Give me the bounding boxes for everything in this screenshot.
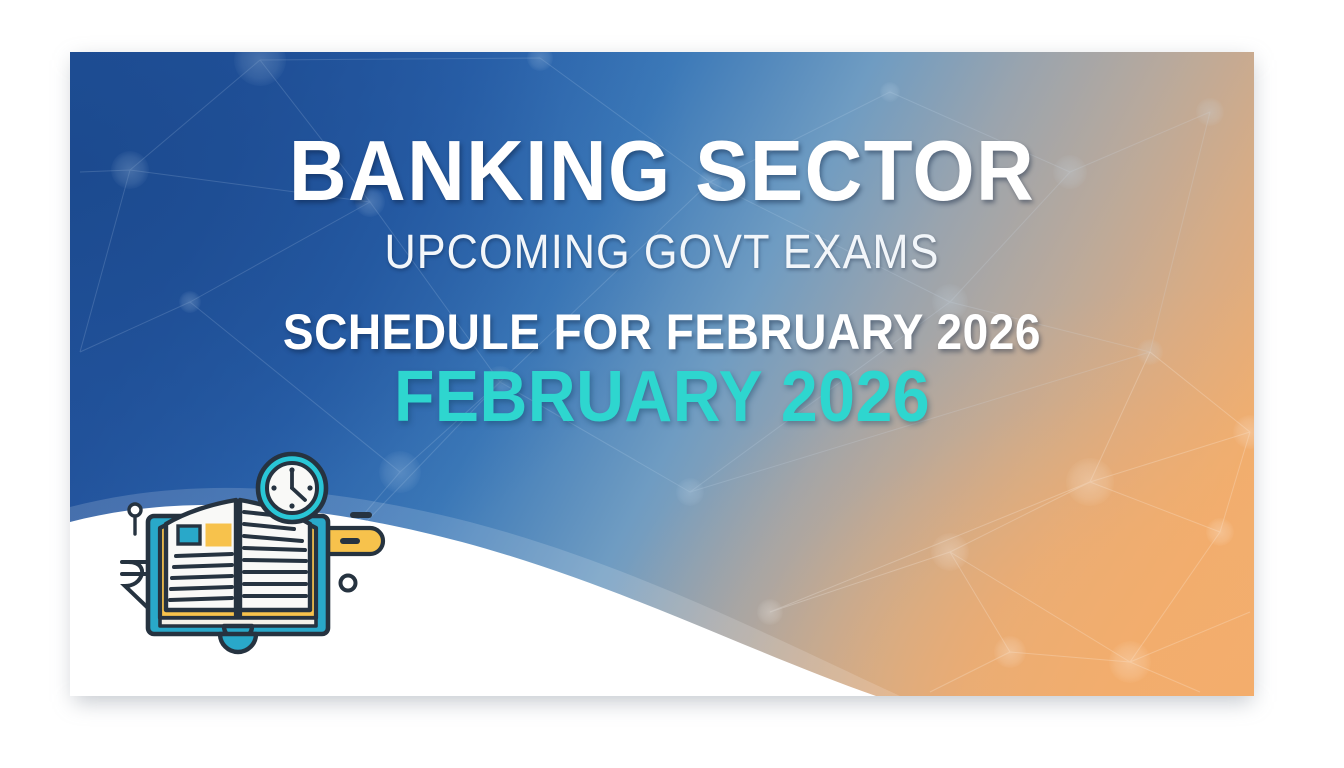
- pin-icon: [129, 504, 141, 534]
- clock-icon: [258, 454, 326, 522]
- screenshot-root: BANKING SECTOR UPCOMING GOVT EXAMS SCHED…: [0, 0, 1344, 768]
- headline-schedule-line: SCHEDULE FOR FEBRUARY 2026: [117, 307, 1206, 357]
- dash-decoration-icon: [350, 512, 372, 518]
- headline-subtitle: UPCOMING GOVT EXAMS: [129, 229, 1195, 277]
- headline-month-accent: FEBRUARY 2026: [117, 361, 1206, 433]
- open-book-with-clock-illustration: [108, 450, 408, 675]
- page-title: BANKING SECTOR: [106, 130, 1219, 213]
- ring-decoration-icon: [341, 576, 356, 591]
- headline-block: BANKING SECTOR UPCOMING GOVT EXAMS SCHED…: [70, 130, 1254, 433]
- bookmark-tag-icon: [326, 528, 383, 554]
- rupee-icon: [122, 562, 148, 608]
- banner-card: BANKING SECTOR UPCOMING GOVT EXAMS SCHED…: [70, 52, 1254, 696]
